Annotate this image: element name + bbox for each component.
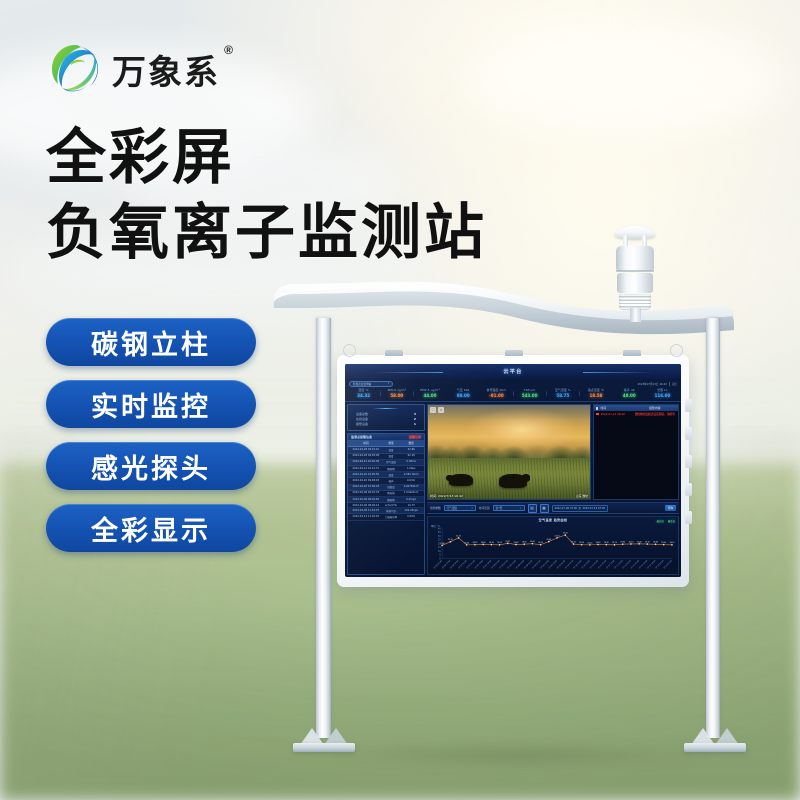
metric-card-8: 露点温度 ℃18.58 [579, 388, 612, 399]
cabinet-vent [685, 427, 692, 440]
chart-title: 空气温度 趋势曲线 [428, 518, 678, 522]
svg-text:07-13 07:00: 07-13 07:00 [664, 559, 674, 569]
feature-pill-3[interactable]: 感光探头 [46, 442, 256, 490]
svg-text:18.00: 18.00 [587, 542, 593, 544]
feature-pill-4[interactable]: 全彩显示 [46, 504, 256, 552]
svg-text:22.40: 22.40 [546, 539, 552, 541]
headline-block: 全彩屏 负氧离子监测站 [46, 126, 487, 266]
svg-text:27.31: 27.31 [456, 535, 461, 537]
svg-text:18.60: 18.60 [481, 542, 487, 544]
cattle [499, 474, 527, 488]
metric-card-5: 信号强度 dbm-91.00 [480, 388, 513, 399]
chart-plot-area: 051015202530354017.4007-06 07:0022.1007-… [428, 525, 678, 574]
svg-text:19.60: 19.60 [530, 541, 536, 543]
alarm-log-cell: 颗粒物浓度超过设定阈值，请检查 [635, 412, 676, 416]
metric-value: 116.00 [646, 393, 679, 399]
metric-value: -91.00 [480, 393, 513, 399]
svg-text:20.07: 20.07 [505, 541, 510, 543]
feature-pill-label: 实时监控 [91, 385, 211, 424]
dashboard-title: 云平台 [503, 368, 522, 375]
snapshot-icon[interactable]: ⌾ [438, 407, 444, 413]
right-base-plate [684, 730, 746, 752]
cabinet-vent [685, 511, 692, 524]
param-select[interactable]: 空气温度 ▾ [444, 505, 476, 511]
search-button[interactable]: 查询 [665, 505, 676, 511]
alarm-log-panel: 时间 报警内容 2022-07-13 16:42颗粒物浓度超过设定阈值，请检查 [593, 404, 679, 500]
header-stamp: 2023年07月13日 16:42 退出 [638, 382, 677, 386]
metric-value: 58.75 [546, 393, 579, 399]
brand-name: 万象系 ® [112, 45, 220, 94]
range-select[interactable]: 近7天 ▾ [493, 505, 525, 511]
video-feed[interactable]: ⛶ ⌾ 时间: 2022/7/13 16:42 山东 潍坊 [427, 404, 591, 500]
cabinet-tab [505, 350, 523, 356]
chart-view-icon[interactable]: ▦ [540, 504, 549, 513]
alert-marker-icon [596, 413, 599, 416]
cabinet-vent [685, 399, 692, 412]
table-view-icon[interactable]: ▤ [528, 504, 537, 513]
feature-pill-label: 碳钢立柱 [91, 323, 211, 362]
right-steel-post [706, 318, 720, 738]
svg-text:19.10: 19.10 [645, 541, 651, 543]
metric-value: 543.00 [513, 393, 546, 399]
param-select-value: 空气温度 [447, 506, 457, 510]
svg-text:18.40: 18.40 [514, 542, 520, 544]
svg-text:10: 10 [438, 551, 441, 553]
date-separator: 至 [579, 506, 582, 510]
date-end: 2022-07-13 07:00 [583, 507, 606, 510]
sensor-body-lower [617, 273, 653, 293]
sensor-body-upper [616, 246, 654, 271]
svg-text:40: 40 [438, 528, 441, 530]
marketing-copy: 万象系 ® 全彩屏 负氧离子监测站 碳钢立柱实时监控感光探头全彩显示 [0, 0, 420, 800]
feature-pill-list: 碳钢立柱实时监控感光探头全彩显示 [46, 318, 256, 552]
svg-text:27.33: 27.33 [555, 535, 560, 537]
svg-text:18.20: 18.20 [538, 542, 544, 544]
svg-text:15: 15 [438, 547, 441, 549]
svg-text:18.30: 18.30 [489, 542, 495, 544]
svg-text:18.00: 18.00 [464, 542, 470, 544]
header-datetime: 2023年07月13日 16:42 [638, 382, 667, 386]
metric-card-7: 空气湿度 %58.75 [546, 388, 579, 399]
svg-text:18.10: 18.10 [612, 542, 618, 544]
headline-line-1: 全彩屏 [46, 126, 487, 191]
feature-pill-2[interactable]: 实时监控 [46, 380, 256, 428]
fullscreen-icon[interactable]: ⛶ [430, 407, 436, 413]
sensor-stem [630, 308, 641, 322]
video-toolbar[interactable]: ⛶ ⌾ [430, 407, 444, 413]
video-location: 山东 潍坊 [576, 494, 588, 498]
svg-text:18.90: 18.90 [620, 542, 626, 544]
brand-logo: 万象系 ® [48, 42, 220, 96]
logout-button[interactable]: 退出 [669, 382, 677, 386]
svg-text:25: 25 [438, 540, 441, 542]
chart-controls[interactable]: 监测参数 空气温度 ▾ 时间范围 近7天 ▾ ▤ ▦ 20 [427, 502, 679, 514]
cattle-head [446, 475, 454, 481]
cabinet-vent [685, 483, 692, 496]
chevron-down-icon: ▾ [520, 507, 521, 510]
date-range-picker[interactable]: 2022-07-06 07:00 至 2022-07-13 07:00 [552, 505, 609, 512]
bullet-icon [596, 407, 598, 410]
alarm-log-col-content: 报警内容 [634, 406, 676, 410]
globe-swoosh-logo-icon [48, 42, 102, 96]
metric-value: 98.00 [447, 393, 480, 399]
svg-text:18.10: 18.10 [670, 542, 676, 544]
svg-text:18.80: 18.80 [653, 542, 659, 544]
cattle [449, 474, 473, 486]
cabinet-vent [685, 455, 692, 468]
alarm-log-row[interactable]: 2022-07-13 16:42颗粒物浓度超过设定阈值，请检查 [594, 411, 678, 417]
svg-text:19.20: 19.20 [628, 541, 634, 543]
trend-chart[interactable]: 空气温度 趋势曲线 单位: ℃ 最高值最低值 05101520253035401… [427, 516, 679, 575]
svg-text:5: 5 [439, 555, 441, 557]
svg-text:18.20: 18.20 [579, 542, 585, 544]
main-column: ⛶ ⌾ 时间: 2022/7/13 16:42 山东 潍坊 时间 报警内容 [427, 404, 679, 575]
svg-text:17.40: 17.40 [440, 543, 446, 545]
chevron-down-icon: ▾ [472, 507, 473, 510]
legend-entry: 最低值 [668, 519, 675, 523]
brand-name-text: 万象系 [112, 54, 220, 92]
cattle-head [522, 474, 531, 481]
metric-card-6: TSP μm543.00 [513, 388, 546, 399]
svg-text:31.05: 31.05 [563, 532, 568, 534]
registered-mark: ® [224, 43, 235, 57]
metric-value: 48.00 [613, 393, 646, 399]
cabinet-tab [623, 350, 641, 356]
range-label: 时间范围 [479, 506, 490, 510]
headline-line-2: 负氧离子监测站 [46, 201, 487, 266]
param-label: 监测参数 [430, 506, 441, 510]
feature-pill-label: 全彩显示 [91, 509, 211, 548]
svg-text:18.10: 18.10 [497, 542, 503, 544]
svg-text:18.30: 18.30 [661, 542, 667, 544]
svg-text:18.20: 18.20 [472, 542, 478, 544]
feature-pill-1[interactable]: 碳钢立柱 [46, 318, 256, 366]
svg-text:18.30: 18.30 [604, 542, 610, 544]
sensor-ring [616, 270, 654, 272]
alarm-log-rows[interactable]: 2022-07-13 16:42颗粒物浓度超过设定阈值，请检查 [594, 411, 678, 417]
chart-legend: 最高值最低值 [657, 519, 675, 523]
base-plate [684, 743, 746, 752]
svg-text:19.10: 19.10 [571, 541, 577, 543]
metric-card-9: 噪声 db48.00 [613, 388, 646, 399]
metric-card-4: 气压 KPa98.00 [447, 388, 480, 399]
alarm-log-col-time: 时间 [600, 406, 633, 410]
metric-card-10: 光照 Lx116.00 [646, 388, 679, 399]
range-select-value: 近7天 [496, 506, 503, 510]
alarm-log-cell: 2022-07-13 16:42 [601, 412, 633, 416]
video-row: ⛶ ⌾ 时间: 2022/7/13 16:42 山东 潍坊 时间 报警内容 [427, 404, 679, 500]
mount-hook [670, 344, 683, 357]
svg-text:30: 30 [438, 536, 441, 538]
svg-text:18.90: 18.90 [522, 542, 528, 544]
svg-text:18.50: 18.50 [596, 542, 602, 544]
svg-text:22.10: 22.10 [448, 539, 454, 541]
svg-text:19.40: 19.40 [637, 541, 643, 543]
date-start: 2022-07-06 07:00 [555, 507, 578, 510]
video-timestamp: 时间: 2022/7/13 16:42 [430, 494, 463, 498]
svg-text:35: 35 [438, 532, 441, 534]
legend-entry: 最高值 [657, 519, 664, 523]
feature-pill-label: 感光探头 [91, 447, 211, 486]
ultrasonic-weather-sensor-icon [607, 226, 663, 318]
metric-value: 18.58 [579, 393, 612, 399]
sensor-cap [615, 226, 655, 239]
